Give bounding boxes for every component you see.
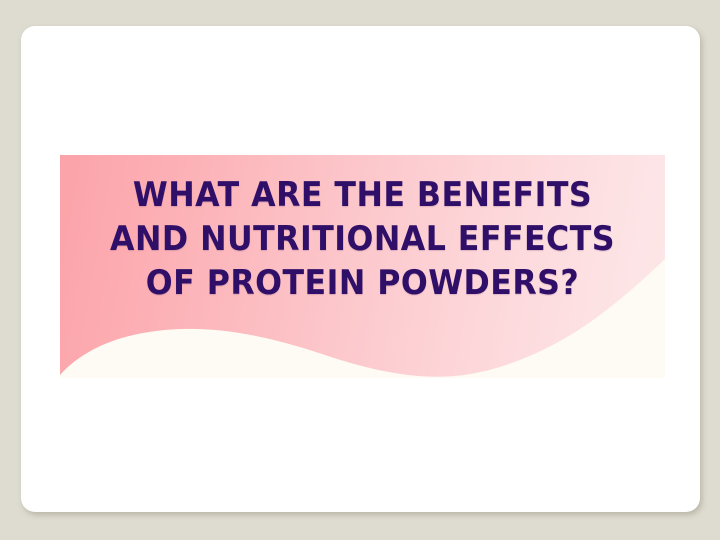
title-text-block: WHAT ARE THE BENEFITS AND NUTRITIONAL EF… xyxy=(60,155,665,305)
title-line-2: AND NUTRITIONAL EFFECTS xyxy=(81,217,644,261)
slide-canvas: WHAT ARE THE BENEFITS AND NUTRITIONAL EF… xyxy=(0,0,720,540)
presentation-slide: WHAT ARE THE BENEFITS AND NUTRITIONAL EF… xyxy=(21,26,700,512)
title-line-1: WHAT ARE THE BENEFITS xyxy=(81,173,644,217)
title-banner: WHAT ARE THE BENEFITS AND NUTRITIONAL EF… xyxy=(60,155,665,378)
title-line-3: OF PROTEIN POWDERS? xyxy=(81,261,644,305)
